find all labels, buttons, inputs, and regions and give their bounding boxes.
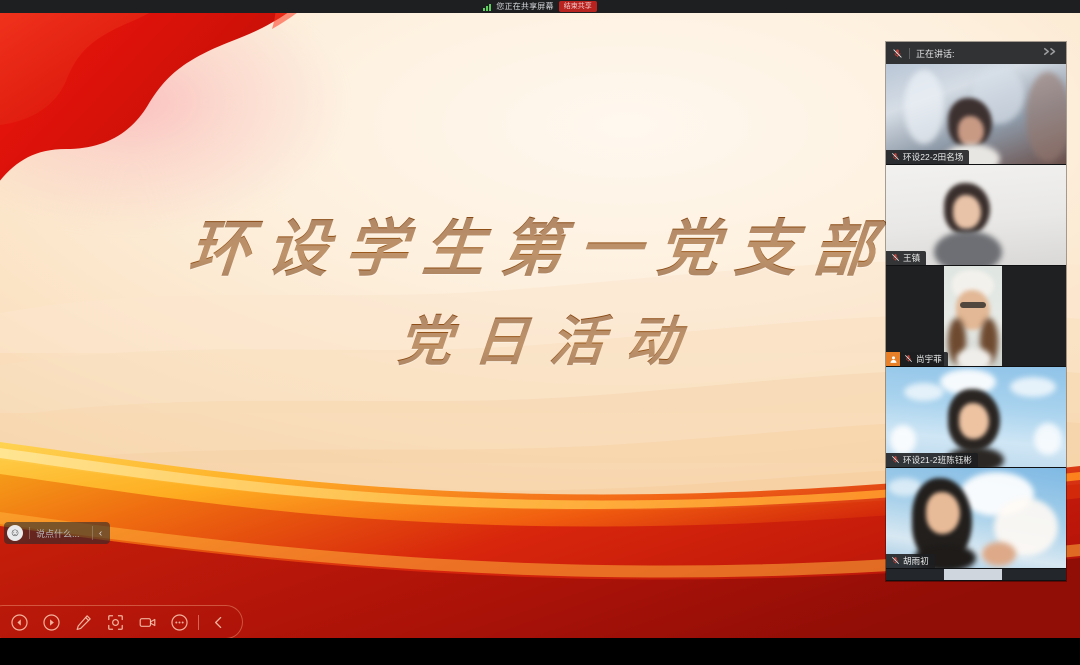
participant-name: 环设22-2田名场 [903, 151, 963, 163]
video-feed [886, 64, 1066, 164]
host-badge-icon [886, 352, 900, 366]
participant-name-badge: 王镇 [886, 251, 926, 265]
mic-muted-icon [891, 148, 900, 165]
collapse-toolbar-button[interactable] [202, 606, 234, 638]
screen-share-view: 您正在共享屏幕 结束共享 [0, 0, 1080, 665]
pencil-icon[interactable] [67, 606, 99, 638]
video-camera-icon[interactable] [131, 606, 163, 638]
double-chevron-icon[interactable] [1042, 46, 1060, 60]
mic-muted-icon [891, 552, 900, 569]
end-share-button[interactable]: 结束共享 [559, 1, 597, 12]
mic-muted-icon [892, 48, 903, 59]
smiley-icon[interactable]: ☺ [7, 525, 23, 541]
previous-slide-button[interactable] [3, 606, 35, 638]
participant-name: 环设21-2班陈钰彬 [903, 454, 972, 466]
participant-video-panel: 正在讲话: [886, 42, 1066, 581]
ellipsis-circle-icon[interactable] [163, 606, 195, 638]
divider [29, 527, 30, 539]
participant-name-badge: 尚宇菲 [886, 352, 948, 366]
mic-muted-icon [904, 350, 913, 367]
participant-name: 胡雨初 [903, 555, 929, 567]
video-feed [886, 569, 1066, 580]
participant-name: 尚宇菲 [916, 353, 942, 365]
participant-name-badge: 环设22-2田名场 [886, 150, 969, 164]
mic-muted-icon [891, 451, 900, 468]
video-tile[interactable]: 环设22-2田名场 [886, 64, 1066, 165]
video-feed [886, 367, 1066, 467]
video-tile[interactable]: 王镇 [886, 165, 1066, 266]
video-tile[interactable]: 环设21-2班陈钰彬 [886, 367, 1066, 468]
divider [909, 48, 910, 59]
participant-name: 王镇 [903, 252, 920, 264]
signal-bars-icon [483, 3, 491, 11]
active-speaker-header: 正在讲话: [886, 42, 1066, 64]
play-slide-button[interactable] [35, 606, 67, 638]
screen-share-status-bar: 您正在共享屏幕 结束共享 [0, 0, 1080, 13]
video-feed [886, 266, 1066, 366]
participant-name-badge: 环设21-2班陈钰彬 [886, 453, 978, 467]
video-tile[interactable]: 尚宇菲 [886, 266, 1066, 367]
video-tile[interactable]: 胡雨初 [886, 468, 1066, 569]
active-speaker-label: 正在讲话: [916, 47, 1036, 60]
comment-input-bar[interactable]: ☺ 说点什么... ‹ [4, 522, 110, 544]
chevron-left-icon[interactable]: ‹ [92, 526, 108, 540]
focus-target-icon[interactable] [99, 606, 131, 638]
presenter-toolbar [0, 605, 243, 638]
video-feed [886, 165, 1066, 265]
video-tile[interactable] [886, 569, 1066, 581]
mic-muted-icon [891, 249, 900, 266]
share-status-text: 您正在共享屏幕 [496, 0, 553, 13]
divider [198, 615, 199, 630]
video-feed [886, 468, 1066, 568]
participant-name-badge: 胡雨初 [886, 554, 935, 568]
comment-input[interactable]: 说点什么... [36, 527, 88, 540]
